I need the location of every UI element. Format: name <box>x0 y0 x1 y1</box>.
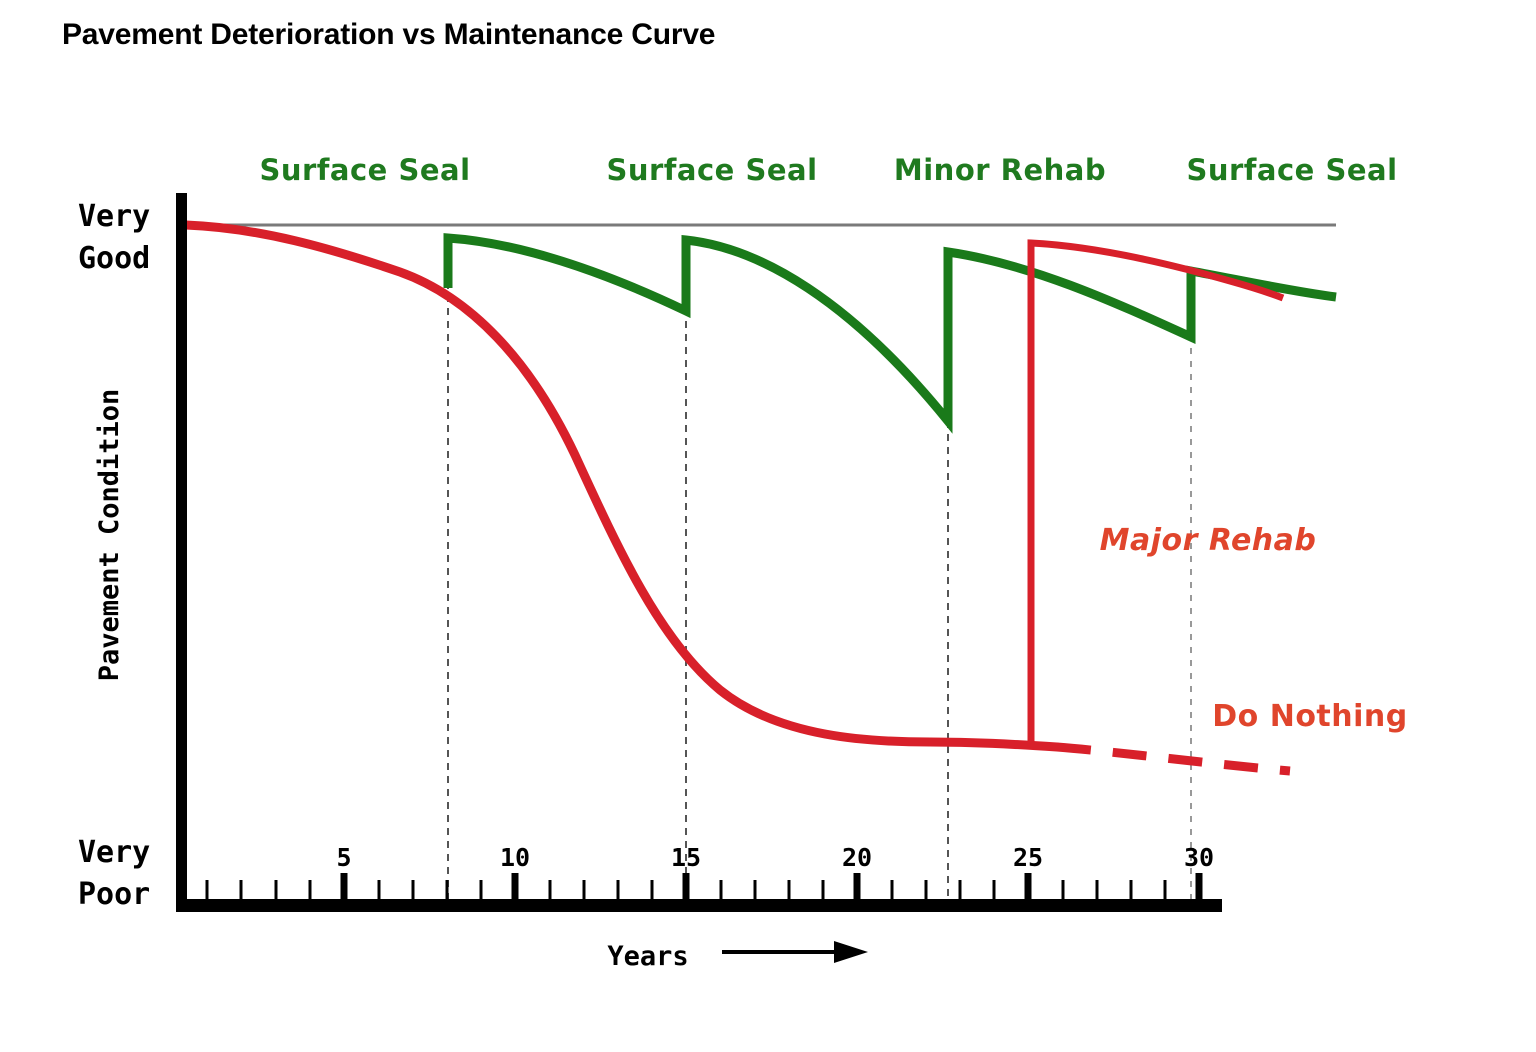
pavement-chart: 5 10 15 20 25 30 Very Good Very Poor Pav… <box>0 0 1536 1052</box>
gridlines <box>448 243 1191 902</box>
annotation-surface-seal-2: Surface Seal <box>606 153 817 187</box>
y-label-very-poor-line1: Very <box>78 835 150 870</box>
x-tick-label-25: 25 <box>1013 843 1043 872</box>
y-axis-title: Pavement Condition <box>94 389 125 682</box>
annotation-do-nothing: Do Nothing <box>1212 699 1408 734</box>
annotation-surface-seal-3: Surface Seal <box>1186 153 1397 187</box>
annotation-major-rehab: Major Rehab <box>1100 523 1317 558</box>
annotation-minor-rehab: Minor Rehab <box>894 153 1106 187</box>
arrow-right-icon <box>722 941 868 963</box>
y-axis <box>176 193 187 909</box>
annotation-surface-seal-1: Surface Seal <box>259 153 470 187</box>
x-axis-title: Years <box>607 941 688 972</box>
x-tick-label-15: 15 <box>671 843 701 872</box>
y-label-very-good-line1: Very <box>78 199 150 234</box>
y-label-very-good-line2: Good <box>78 241 150 276</box>
x-tick-label-5: 5 <box>336 843 351 872</box>
chart-page: Pavement Deterioration vs Maintenance Cu… <box>0 0 1536 1052</box>
x-tick-label-10: 10 <box>500 843 530 872</box>
series-maintained-curve <box>448 238 1336 421</box>
y-label-very-poor-line2: Poor <box>78 877 150 912</box>
series-do-nothing-dashed <box>1057 747 1290 771</box>
series-do-nothing-curve <box>186 225 1057 747</box>
x-axis-ticks <box>207 873 1199 900</box>
x-tick-label-30: 30 <box>1184 843 1214 872</box>
x-tick-label-20: 20 <box>842 843 872 872</box>
x-axis <box>176 899 1222 912</box>
